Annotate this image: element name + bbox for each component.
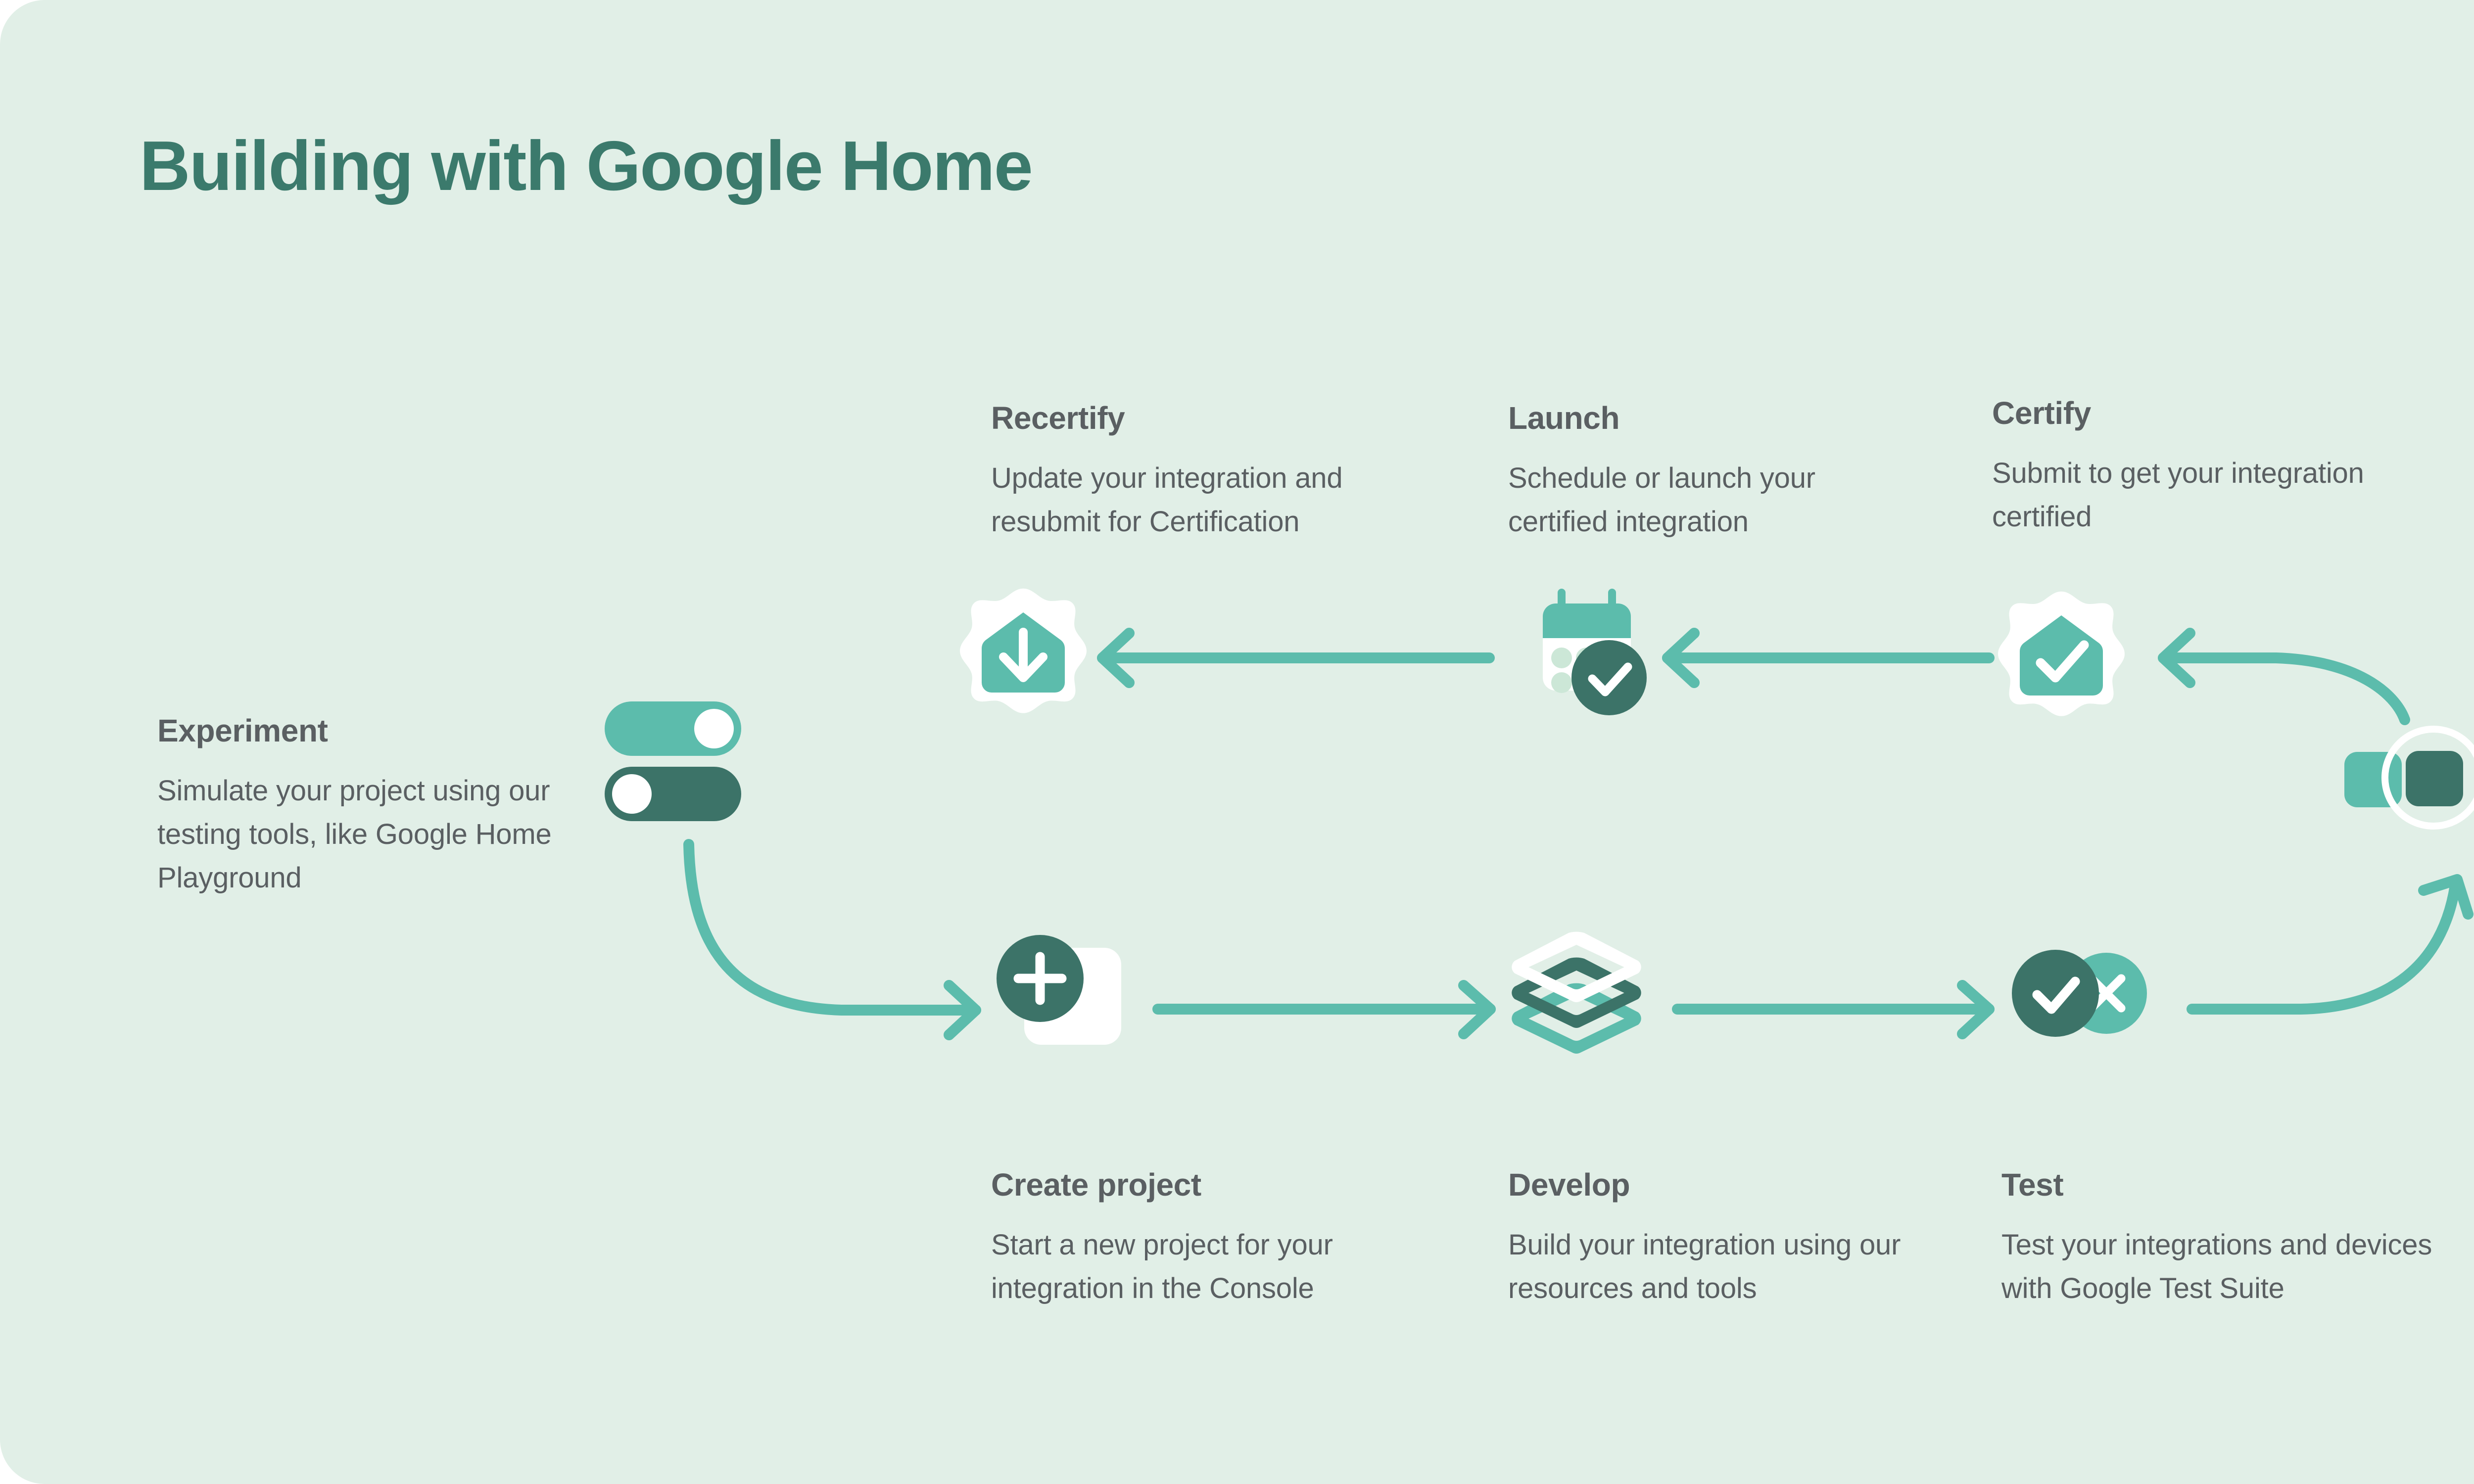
certification-badge-check-icon [2002,598,2121,716]
step-block-launch: Launch Schedule or launch your certified… [1508,398,1904,544]
connector-experiment-to-create-2 [689,844,976,1010]
step-title-test: Test [2001,1165,2467,1205]
step-block-recertify: Recertify Update your integration and re… [991,398,1417,544]
step-block-test: Test Test your integrations and devices … [2001,1165,2467,1310]
step-title-recertify: Recertify [991,398,1417,438]
two-devices-circle-icon [2336,722,2474,831]
step-block-certify: Certify Submit to get your integration c… [1992,393,2388,539]
step-desc-experiment: Simulate your project using our testing … [157,769,593,900]
toggle-switches-icon [605,701,753,825]
connector-create-to-develop-arrowhead [1464,985,1490,1034]
step-block-experiment: Experiment Simulate your project using o… [157,711,593,900]
step-block-create-project: Create project Start a new project for y… [991,1165,1427,1310]
check-and-cross-circles-icon [2010,944,2158,1043]
calendar-check-icon [1525,591,1649,714]
page-title: Building with Google Home [140,128,1032,205]
step-block-develop: Develop Build your integration using our… [1508,1165,1944,1310]
step-desc-recertify: Update your integration and resubmit for… [991,457,1417,544]
step-title-certify: Certify [1992,393,2388,433]
connector-test-to-fieldtrial-arrowhead [2424,880,2468,914]
connector-launch-to-recertify-arrowhead [1102,633,1129,683]
step-title-launch: Launch [1508,398,1904,438]
connector-experiment-to-create-arrowhead [949,985,976,1035]
step-title-experiment: Experiment [157,711,593,750]
step-desc-certify: Submit to get your integration certified [1992,452,2388,539]
diagram-canvas: Building with Google Home [0,0,2474,1484]
connector-test-to-fieldtrial [2192,885,2455,1009]
step-desc-create-project: Start a new project for your integration… [991,1223,1427,1310]
connector-certify-to-launch-arrowhead [1667,633,1694,683]
step-title-develop: Develop [1508,1165,1944,1205]
connector-fieldtrial-to-certify [2163,658,2405,720]
step-title-create-project: Create project [991,1165,1427,1205]
diagram-board: Building with Google Home [0,0,2474,1484]
new-project-plus-icon [986,924,1124,1053]
step-desc-develop: Build your integration using our resourc… [1508,1223,1944,1310]
certification-badge-download-icon [964,595,1083,713]
connector-fieldtrial-to-certify-arrowhead [2163,633,2190,683]
layers-stack-icon [1507,923,1646,1053]
connector-develop-to-test-arrowhead [1962,985,1989,1034]
step-desc-test: Test your integrations and devices with … [2001,1223,2467,1310]
step-desc-launch: Schedule or launch your certified integr… [1508,457,1904,544]
